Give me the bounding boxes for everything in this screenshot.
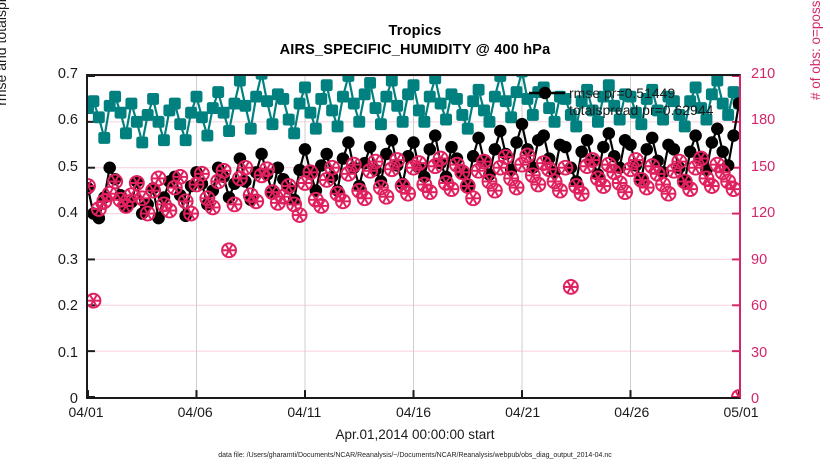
data-point-square	[348, 98, 360, 110]
y-tick-right-5: 150	[751, 159, 775, 175]
data-point-circle	[641, 143, 654, 155]
x-tick-2: 04/11	[287, 404, 321, 420]
data-point-circle	[320, 148, 333, 160]
y-tick-left-0: 0	[0, 391, 78, 407]
data-point-square	[142, 109, 154, 121]
data-point-circle	[494, 125, 507, 137]
y-axis-right-label: # of obs: o=possible; *=evaluated	[808, 0, 823, 100]
data-point-circle	[668, 143, 681, 155]
data-point-circle	[559, 141, 572, 153]
x-tick-4: 04/21	[505, 404, 540, 420]
data-point-square	[212, 86, 224, 98]
data-point-circle	[255, 148, 268, 160]
data-point-square	[353, 116, 365, 128]
data-point-square	[397, 116, 409, 128]
data-point-square	[451, 93, 463, 105]
x-tick-5: 04/26	[614, 404, 649, 420]
data-point-square	[408, 79, 420, 91]
data-point-square	[98, 132, 110, 144]
data-point-square	[185, 107, 197, 119]
data-point-square	[147, 93, 159, 105]
data-point-square	[321, 79, 333, 91]
data-point-square	[115, 107, 127, 119]
data-point-circle	[706, 136, 719, 148]
data-point-circle	[472, 132, 485, 144]
data-point-circle	[711, 123, 724, 135]
data-point-square	[473, 84, 485, 96]
data-point-square	[413, 104, 425, 116]
data-point-square	[245, 123, 257, 135]
data-point-square	[483, 116, 495, 128]
data-point-square	[294, 98, 306, 110]
data-point-square	[191, 91, 203, 103]
data-point-square	[489, 91, 501, 103]
plot-canvas	[88, 76, 739, 397]
chart-title: Tropics AIRS_SPECIFIC_HUMIDITY @ 400 hPa	[0, 22, 830, 60]
data-point-square	[337, 91, 349, 103]
title-line-variable: AIRS_SPECIFIC_HUMIDITY @ 400 hPa	[0, 41, 830, 60]
data-point-square	[326, 104, 338, 116]
data-point-square	[266, 118, 278, 130]
data-point-square	[505, 111, 517, 123]
data-point-square	[196, 111, 208, 123]
y-tick-left-2: 0.2	[0, 298, 78, 314]
data-point-square	[153, 116, 165, 128]
data-point-circle	[445, 141, 458, 153]
data-file-footer: data file: /Users/gharamti/Documents/NCA…	[0, 452, 830, 459]
y-tick-right-6: 180	[751, 112, 775, 128]
data-point-square	[635, 118, 647, 130]
data-point-circle	[624, 139, 637, 151]
data-point-square	[380, 91, 392, 103]
data-point-square	[207, 102, 219, 114]
y-tick-left-1: 0.1	[0, 345, 78, 361]
y-tick-right-4: 120	[751, 205, 775, 221]
y-tick-right-2: 60	[751, 298, 767, 314]
x-tick-6: 05/01	[723, 404, 758, 420]
data-point-square	[288, 127, 300, 139]
x-tick-1: 04/06	[178, 404, 213, 420]
data-point-square	[234, 76, 246, 87]
y-tick-left-5: 0.5	[0, 159, 78, 175]
legend-row-rmse: rmse pr=0.51449	[528, 84, 713, 101]
data-point-square	[440, 114, 452, 126]
y-tick-right-1: 30	[751, 345, 767, 361]
data-point-square	[310, 123, 322, 135]
data-point-circle	[716, 145, 729, 157]
y-tick-left-4: 0.4	[0, 205, 78, 221]
data-point-square	[109, 91, 121, 103]
data-point-circle	[103, 161, 116, 173]
data-point-square	[342, 76, 354, 82]
data-point-circle	[299, 143, 312, 155]
data-point-circle	[727, 129, 739, 141]
data-point-square	[277, 93, 289, 105]
y-tick-right-7: 210	[751, 66, 775, 82]
y-tick-left-6: 0.6	[0, 112, 78, 128]
data-point-square	[239, 100, 251, 112]
data-point-square	[93, 111, 105, 123]
x-tick-0: 04/01	[68, 404, 103, 420]
data-point-square	[136, 137, 148, 149]
data-point-circle	[646, 132, 659, 144]
data-point-square	[467, 95, 479, 107]
data-point-circle	[689, 129, 702, 141]
data-point-square	[478, 104, 490, 116]
y-axis-left-label: rmse and totalspread	[0, 0, 9, 150]
title-line-region: Tropics	[0, 22, 830, 41]
data-point-circle	[364, 141, 377, 153]
data-point-square	[180, 134, 192, 146]
data-point-square	[500, 95, 512, 107]
data-point-square	[717, 98, 729, 110]
data-point-square	[570, 121, 582, 133]
data-point-square	[370, 102, 382, 114]
data-point-square	[261, 95, 273, 107]
data-point-square	[174, 118, 186, 130]
data-point-square	[516, 76, 528, 77]
legend-row-totalspread: totalspread pr=0.62944	[528, 101, 713, 118]
data-point-square	[375, 118, 387, 130]
y-tick-left-3: 0.3	[0, 252, 78, 268]
data-point-square	[435, 98, 447, 110]
legend-marker-rmse	[528, 85, 566, 101]
data-point-square	[304, 107, 316, 119]
data-point-square	[456, 109, 468, 121]
data-point-square	[256, 76, 268, 80]
y-tick-left-7: 0.7	[0, 66, 78, 82]
chart-legend: rmse pr=0.51449 totalspread pr=0.62944	[528, 84, 713, 118]
legend-label-totalspread: totalspread pr=0.62944	[569, 102, 713, 118]
data-point-square	[223, 125, 235, 137]
data-point-circle	[597, 141, 610, 153]
data-point-square	[391, 100, 403, 112]
data-point-circle	[386, 134, 399, 146]
data-point-square	[250, 91, 262, 103]
data-point-square	[131, 116, 143, 128]
data-point-square	[418, 116, 430, 128]
y-tick-right-3: 90	[751, 252, 767, 268]
data-point-square	[364, 77, 376, 89]
data-point-square	[125, 98, 137, 110]
data-point-square	[728, 86, 739, 98]
data-point-square	[494, 76, 506, 82]
data-point-square	[424, 91, 436, 103]
data-point-square	[386, 76, 398, 87]
data-point-circle	[424, 143, 437, 155]
data-point-square	[169, 98, 181, 110]
data-point-square	[359, 88, 371, 100]
data-point-square	[679, 121, 691, 133]
x-axis-label: Apr.01,2014 00:00:00 start	[0, 427, 830, 442]
data-point-circle	[516, 118, 529, 130]
data-point-square	[88, 95, 99, 107]
data-point-circle	[537, 129, 550, 141]
data-point-circle	[510, 136, 523, 148]
data-point-circle	[581, 134, 594, 146]
data-point-square	[283, 114, 295, 126]
data-point-circle	[603, 127, 616, 139]
data-point-circle	[407, 136, 420, 148]
plot-area	[86, 74, 741, 399]
data-point-square	[218, 107, 230, 119]
data-point-square	[511, 86, 523, 98]
data-point-square	[201, 130, 213, 142]
x-tick-3: 04/16	[396, 404, 431, 420]
data-point-square	[429, 76, 441, 84]
chart-page: Tropics AIRS_SPECIFIC_HUMIDITY @ 400 hPa…	[0, 0, 830, 470]
data-point-square	[229, 98, 241, 110]
data-point-square	[722, 109, 734, 121]
data-point-square	[158, 134, 170, 146]
data-point-square	[462, 123, 474, 135]
legend-label-rmse: rmse pr=0.51449	[569, 85, 675, 101]
data-point-square	[315, 93, 327, 105]
data-point-square	[120, 127, 132, 139]
data-point-square	[299, 82, 311, 94]
data-point-circle	[429, 129, 442, 141]
data-point-circle	[342, 136, 355, 148]
data-point-square	[332, 121, 344, 133]
